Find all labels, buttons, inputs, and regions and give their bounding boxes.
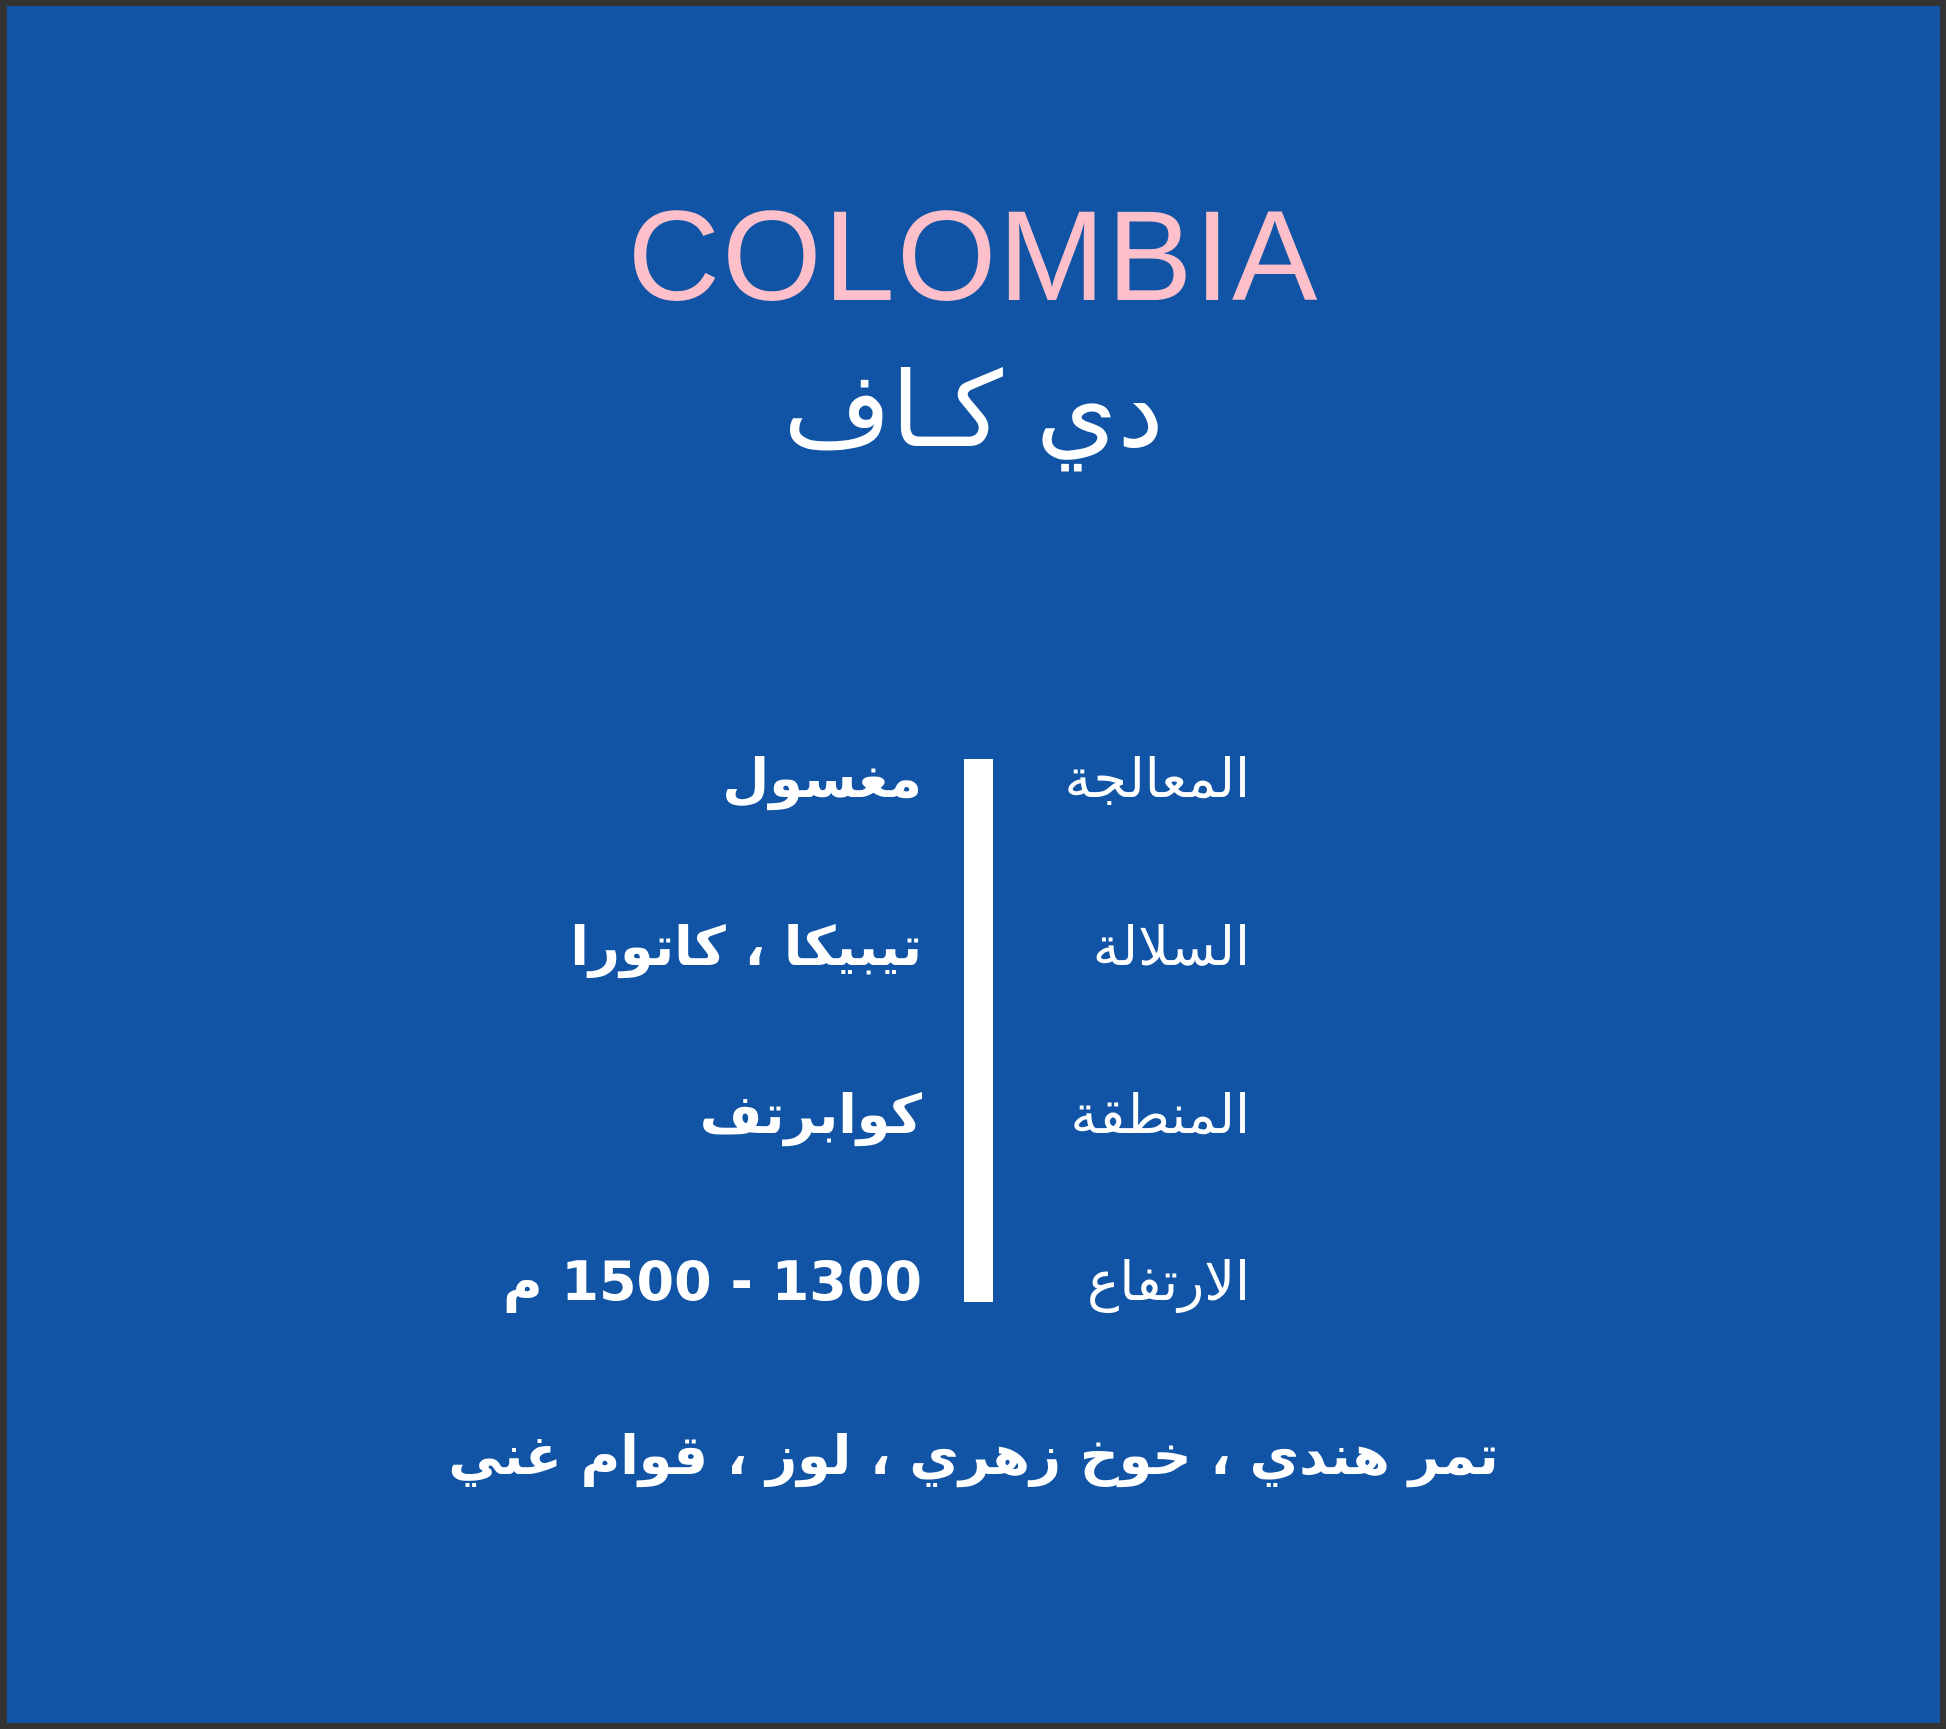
- spec-value-processing: مغسول: [247, 751, 922, 808]
- spec-value-column: مغسول تيبيكا ، كاتورا كوابرتف 1300 - 150…: [247, 751, 922, 1311]
- spec-label-column: المعالجة السلالة المنطقة الارتفاع: [920, 751, 1250, 1311]
- spec-label-altitude: الارتفاع: [920, 1254, 1250, 1311]
- spec-label-region: المنطقة: [920, 1087, 1250, 1144]
- title-block: COLOMBIA دي كـاف: [7, 192, 1940, 475]
- spec-table: المعالجة السلالة المنطقة الارتفاع مغسول …: [7, 751, 1940, 1311]
- spec-label-processing: المعالجة: [920, 751, 1250, 808]
- variant-subtitle: دي كـاف: [7, 345, 1940, 475]
- spec-value-altitude: 1300 - 1500 م: [247, 1254, 922, 1311]
- tasting-notes: تمر هندي ، خوخ زهري ، لوز ، قوام غني: [7, 1424, 1940, 1489]
- spec-label-varietal: السلالة: [920, 919, 1250, 976]
- spec-value-varietal: تيبيكا ، كاتورا: [247, 919, 922, 976]
- spec-value-region: كوابرتف: [247, 1087, 922, 1144]
- page-title: COLOMBIA: [7, 192, 1940, 323]
- coffee-label-card: COLOMBIA دي كـاف المعالجة السلالة المنطق…: [0, 0, 1946, 1729]
